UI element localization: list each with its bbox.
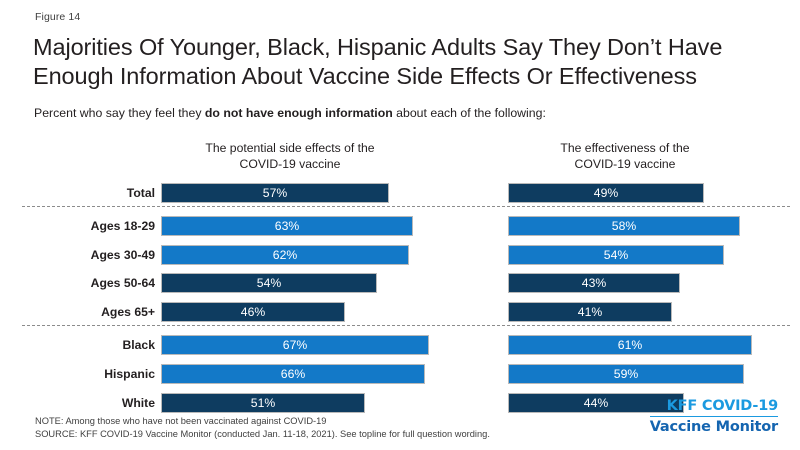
bar-effectiveness: 58% <box>508 216 740 236</box>
bar-chart-plot: Total57%49%Ages 18-2963%58%Ages 30-4962%… <box>0 0 800 450</box>
bar-side-effects: 46% <box>161 302 345 322</box>
bar-value-label: 57% <box>263 186 287 200</box>
row-label: Hispanic <box>30 364 155 384</box>
row-label: Ages 30-49 <box>30 245 155 265</box>
bar-value-label: 62% <box>273 248 297 262</box>
bar-value-label: 63% <box>275 219 299 233</box>
bar-side-effects: 63% <box>161 216 413 236</box>
bar-value-label: 41% <box>578 305 602 319</box>
row-label: Total <box>30 183 155 203</box>
group-separator <box>22 206 790 207</box>
row-label: Ages 65+ <box>30 302 155 322</box>
bar-effectiveness: 41% <box>508 302 672 322</box>
bar-value-label: 54% <box>257 276 281 290</box>
bar-value-label: 54% <box>604 248 628 262</box>
bar-side-effects: 54% <box>161 273 377 293</box>
bar-side-effects: 51% <box>161 393 365 413</box>
kff-logo: KFF COVID-19 Vaccine Monitor <box>650 398 778 436</box>
bar-value-label: 59% <box>614 367 638 381</box>
bar-side-effects: 67% <box>161 335 429 355</box>
bar-value-label: 58% <box>612 219 636 233</box>
kff-logo-line2: Vaccine Monitor <box>650 417 778 436</box>
bar-side-effects: 62% <box>161 245 409 265</box>
chart-source: SOURCE: KFF COVID-19 Vaccine Monitor (co… <box>35 429 490 439</box>
row-label: Ages 50-64 <box>30 273 155 293</box>
bar-value-label: 67% <box>283 338 307 352</box>
bar-effectiveness: 59% <box>508 364 744 384</box>
kff-logo-line1: KFF COVID-19 <box>650 398 778 417</box>
bar-effectiveness: 49% <box>508 183 704 203</box>
bar-value-label: 44% <box>584 396 608 410</box>
bar-side-effects: 66% <box>161 364 425 384</box>
bar-value-label: 49% <box>594 186 618 200</box>
group-separator <box>22 325 790 326</box>
bar-value-label: 61% <box>618 338 642 352</box>
bar-side-effects: 57% <box>161 183 389 203</box>
row-label: White <box>30 393 155 413</box>
bar-value-label: 51% <box>251 396 275 410</box>
bar-effectiveness: 54% <box>508 245 724 265</box>
bar-value-label: 43% <box>582 276 606 290</box>
bar-value-label: 66% <box>281 367 305 381</box>
bar-effectiveness: 43% <box>508 273 680 293</box>
bar-value-label: 46% <box>241 305 265 319</box>
row-label: Black <box>30 335 155 355</box>
chart-note: NOTE: Among those who have not been vacc… <box>35 416 326 426</box>
row-label: Ages 18-29 <box>30 216 155 236</box>
bar-effectiveness: 61% <box>508 335 752 355</box>
